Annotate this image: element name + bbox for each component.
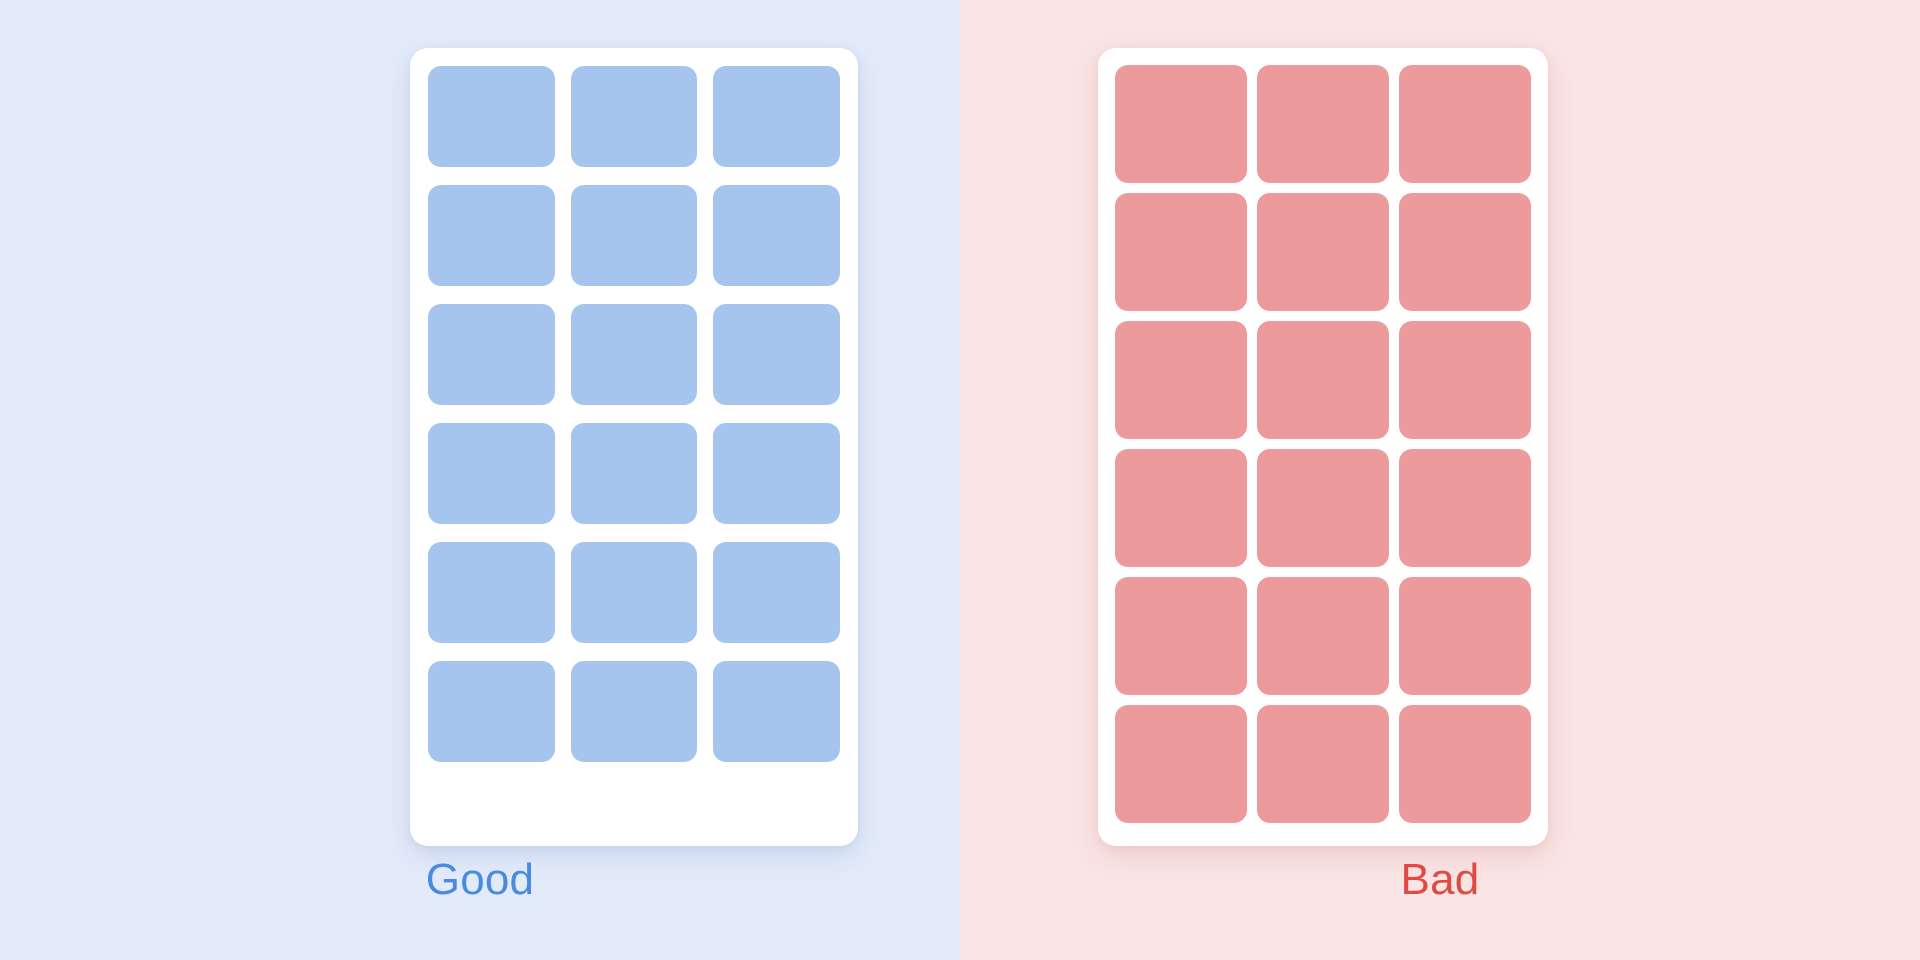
tile[interactable] — [1399, 449, 1531, 567]
tile[interactable] — [1115, 65, 1247, 183]
tile[interactable] — [1115, 449, 1247, 567]
tile[interactable] — [428, 423, 555, 524]
tile[interactable] — [1115, 321, 1247, 439]
caption-good: Good — [0, 858, 960, 902]
tile[interactable] — [571, 542, 698, 643]
tile[interactable] — [428, 542, 555, 643]
tile[interactable] — [713, 304, 840, 405]
comparison-container: Good — [0, 0, 1920, 960]
tile[interactable] — [1115, 577, 1247, 695]
caption-bad: Bad — [960, 858, 1920, 902]
tile[interactable] — [713, 423, 840, 524]
tile[interactable] — [713, 661, 840, 762]
panel-good: Good — [0, 0, 960, 960]
tile[interactable] — [713, 542, 840, 643]
tile[interactable] — [1399, 193, 1531, 311]
tile[interactable] — [1257, 577, 1389, 695]
tile[interactable] — [1115, 193, 1247, 311]
tile[interactable] — [428, 661, 555, 762]
tile[interactable] — [571, 304, 698, 405]
tile[interactable] — [571, 66, 698, 167]
tile[interactable] — [1257, 65, 1389, 183]
card-slot-good — [410, 48, 858, 846]
tile[interactable] — [571, 661, 698, 762]
tile[interactable] — [1257, 321, 1389, 439]
tile[interactable] — [1399, 321, 1531, 439]
card-good — [410, 48, 858, 846]
tile-grid-good — [410, 48, 858, 780]
tile[interactable] — [571, 423, 698, 524]
tile[interactable] — [428, 304, 555, 405]
card-bad — [1098, 48, 1548, 846]
tile[interactable] — [1399, 577, 1531, 695]
tile[interactable] — [713, 66, 840, 167]
tile[interactable] — [1399, 65, 1531, 183]
tile[interactable] — [1257, 449, 1389, 567]
card-slot-bad — [1098, 48, 1548, 846]
panel-bad: Bad — [960, 0, 1920, 960]
tile[interactable] — [1257, 705, 1389, 823]
tile[interactable] — [1115, 705, 1247, 823]
tile[interactable] — [571, 185, 698, 286]
tile[interactable] — [1257, 193, 1389, 311]
tile[interactable] — [428, 185, 555, 286]
tile[interactable] — [428, 66, 555, 167]
tile[interactable] — [1399, 705, 1531, 823]
tile-grid-bad — [1098, 48, 1548, 823]
tile[interactable] — [713, 185, 840, 286]
